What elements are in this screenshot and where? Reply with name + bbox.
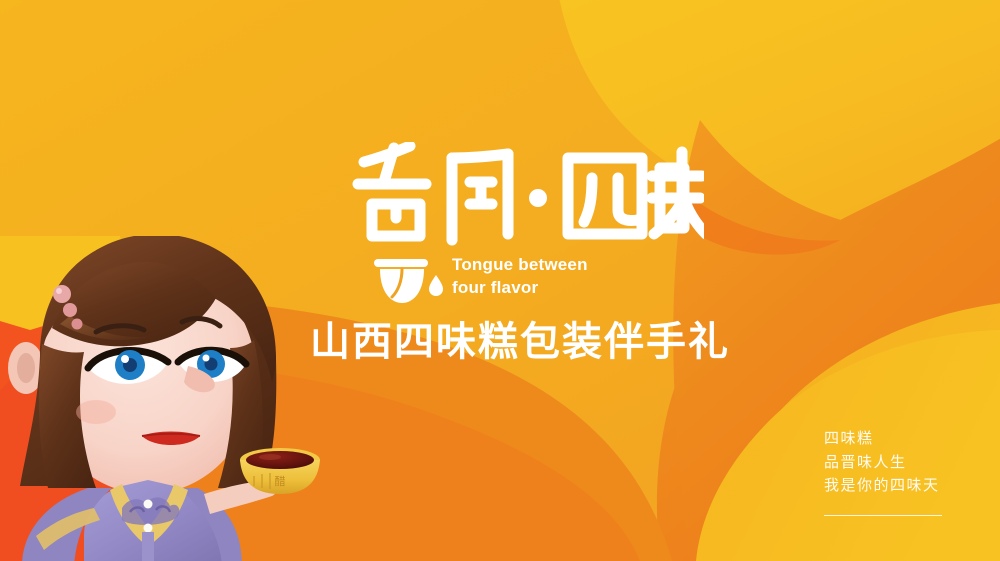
character-blush [76,400,116,424]
page-title: 山西四味糕包装伴手礼 [310,322,730,362]
character-illustration: 醋 [0,236,340,561]
tagline-line-1: 四味糕 [824,428,984,452]
character-button [144,500,153,509]
poster-canvas: 醋 [0,0,1000,561]
bowl-with-droplet-icon [372,257,446,305]
bowl-label: 醋 [275,474,286,488]
tagline-divider [824,515,942,516]
tagline-block: 四味糕 品晋味人生 我是你的四味天 [824,428,984,516]
character-button [144,524,153,533]
vinegar-liquid [246,451,314,469]
tagline-line-3: 我是你的四味天 [824,475,984,499]
brand-logo-english-subtitle: Tongue between four flavor [452,254,588,299]
brand-logo: Tongue between four flavor [352,142,712,307]
brand-logo-subtitle-row: Tongue between four flavor [352,251,712,307]
tagline-line-2: 品晋味人生 [824,452,984,476]
brand-logo-chinese-mark [352,142,704,247]
character-ear-inner [17,353,35,383]
character-robe [22,480,242,561]
